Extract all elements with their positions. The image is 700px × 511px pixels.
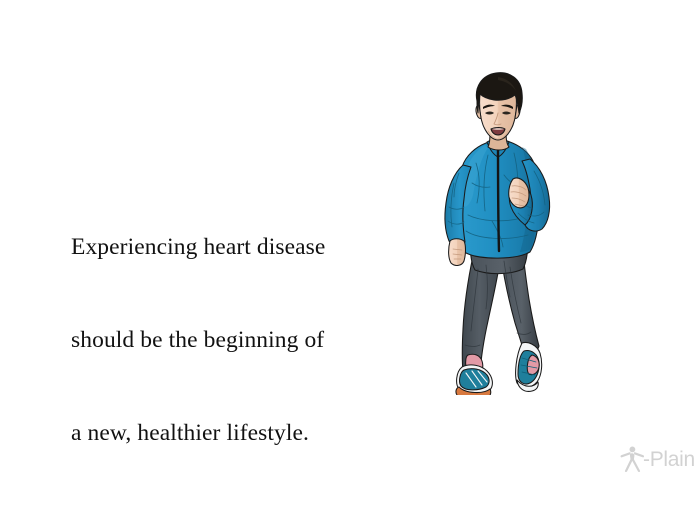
- caption-line-1: Experiencing heart disease: [71, 232, 411, 263]
- logo-wordmark: -Plain: [643, 449, 695, 470]
- x-person-logo-mark: [620, 446, 644, 472]
- jogging-man-svg: [418, 55, 598, 395]
- hand-left: [449, 239, 466, 266]
- shoe-right: [516, 342, 542, 391]
- caption-line-2: should be the beginning of: [71, 325, 411, 356]
- jacket-zipper: [498, 143, 499, 251]
- jogging-man-illustration: [418, 55, 598, 395]
- x-plain-logo: -Plain: [620, 444, 696, 474]
- slide-canvas: Experiencing heart disease should be the…: [0, 0, 700, 480]
- caption-line-3: a new, healthier lifestyle.: [71, 418, 411, 449]
- shoe-left: [456, 354, 492, 395]
- caption-text: Experiencing heart disease should be the…: [71, 170, 411, 511]
